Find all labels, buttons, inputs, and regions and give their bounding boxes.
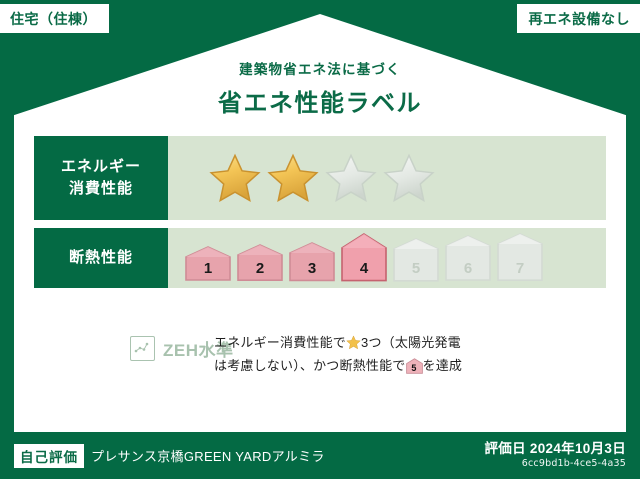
insulation-level-number: 4 bbox=[340, 260, 388, 277]
evaluation-date: 評価日 2024年10月3日 bbox=[484, 441, 626, 458]
insulation-level-empty: 6 bbox=[444, 235, 492, 283]
inline-house-number: 5 bbox=[406, 361, 423, 374]
row-energy-body bbox=[168, 136, 606, 220]
star-filled bbox=[208, 152, 262, 204]
row-insulation-label: 断熱性能 bbox=[34, 228, 168, 288]
zeh-badge: ZEH水準 bbox=[34, 330, 214, 361]
inline-house-icon: 5 bbox=[406, 358, 423, 374]
insulation-level-empty: 5 bbox=[392, 238, 440, 284]
row-energy-label-line1: エネルギー bbox=[61, 156, 141, 178]
tag-building-type: 住宅（住棟） bbox=[0, 4, 109, 33]
desc-line1-a: エネルギー消費性能で bbox=[214, 335, 346, 350]
insulation-level-number: 3 bbox=[288, 260, 336, 277]
footer: 自己評価 プレサンス京橋GREEN YARDアルミラ 評価日 2024年10月3… bbox=[0, 432, 640, 479]
row-insulation-label-text: 断熱性能 bbox=[69, 247, 133, 269]
star-empty bbox=[324, 152, 378, 204]
row-energy-performance: エネルギー 消費性能 bbox=[34, 136, 606, 220]
insulation-level-scale: 1234567 bbox=[184, 233, 544, 284]
insulation-level-empty: 7 bbox=[496, 233, 544, 283]
insulation-level-filled: 3 bbox=[288, 242, 336, 283]
insulation-level-number: 2 bbox=[236, 260, 284, 277]
row-insulation-performance: 断熱性能 1234567 bbox=[34, 228, 606, 288]
achievement-description: エネルギー消費性能で 3つ（太陽光発電 は考慮しない）、かつ断熱性能で 5 を達… bbox=[214, 330, 606, 378]
tag-renewable-energy: 再エネ設備なし bbox=[517, 4, 640, 33]
row-insulation-body: 1234567 bbox=[168, 228, 606, 288]
page-title: 省エネ性能ラベル bbox=[0, 83, 640, 118]
insulation-level-number: 5 bbox=[392, 260, 440, 277]
insulation-level-current: 4 bbox=[340, 233, 388, 284]
row-energy-label-line2: 消費性能 bbox=[69, 178, 133, 200]
insulation-level-number: 7 bbox=[496, 260, 544, 277]
evaluation-id: 6cc9bd1b-4ce5-4a35 bbox=[484, 458, 626, 470]
star-rating bbox=[208, 152, 436, 204]
title-block: 建築物省エネ法に基づく 省エネ性能ラベル bbox=[0, 58, 640, 118]
self-evaluation-badge: 自己評価 bbox=[14, 444, 84, 468]
star-empty bbox=[382, 152, 436, 204]
inline-star-icon bbox=[346, 335, 361, 350]
energy-label-root: 住宅（住棟） 再エネ設備なし 建築物省エネ法に基づく 省エネ性能ラベル エネルギ… bbox=[0, 0, 640, 479]
footer-left: 自己評価 プレサンス京橋GREEN YARDアルミラ bbox=[14, 444, 484, 468]
row-energy-label: エネルギー 消費性能 bbox=[34, 136, 168, 220]
insulation-level-filled: 2 bbox=[236, 244, 284, 283]
star-filled bbox=[266, 152, 320, 204]
building-name: プレサンス京橋GREEN YARDアルミラ bbox=[91, 446, 325, 465]
desc-line2-b: を達成 bbox=[423, 358, 463, 373]
desc-line1-b: 3つ（太陽光発電 bbox=[361, 335, 461, 350]
footer-right: 評価日 2024年10月3日 6cc9bd1b-4ce5-4a35 bbox=[484, 441, 626, 470]
insulation-level-number: 6 bbox=[444, 260, 492, 277]
zeh-chart-icon bbox=[130, 336, 155, 361]
desc-line2-a: は考慮しない）、かつ断熱性能で bbox=[214, 358, 406, 373]
title-subtitle: 建築物省エネ法に基づく bbox=[0, 58, 640, 78]
rating-rows: エネルギー 消費性能 断熱性能 1234567 bbox=[34, 136, 606, 296]
note-block: ZEH水準 エネルギー消費性能で 3つ（太陽光発電 は考慮しない）、かつ断熱性能… bbox=[34, 330, 606, 378]
insulation-level-number: 1 bbox=[184, 260, 232, 277]
insulation-level-filled: 1 bbox=[184, 246, 232, 283]
